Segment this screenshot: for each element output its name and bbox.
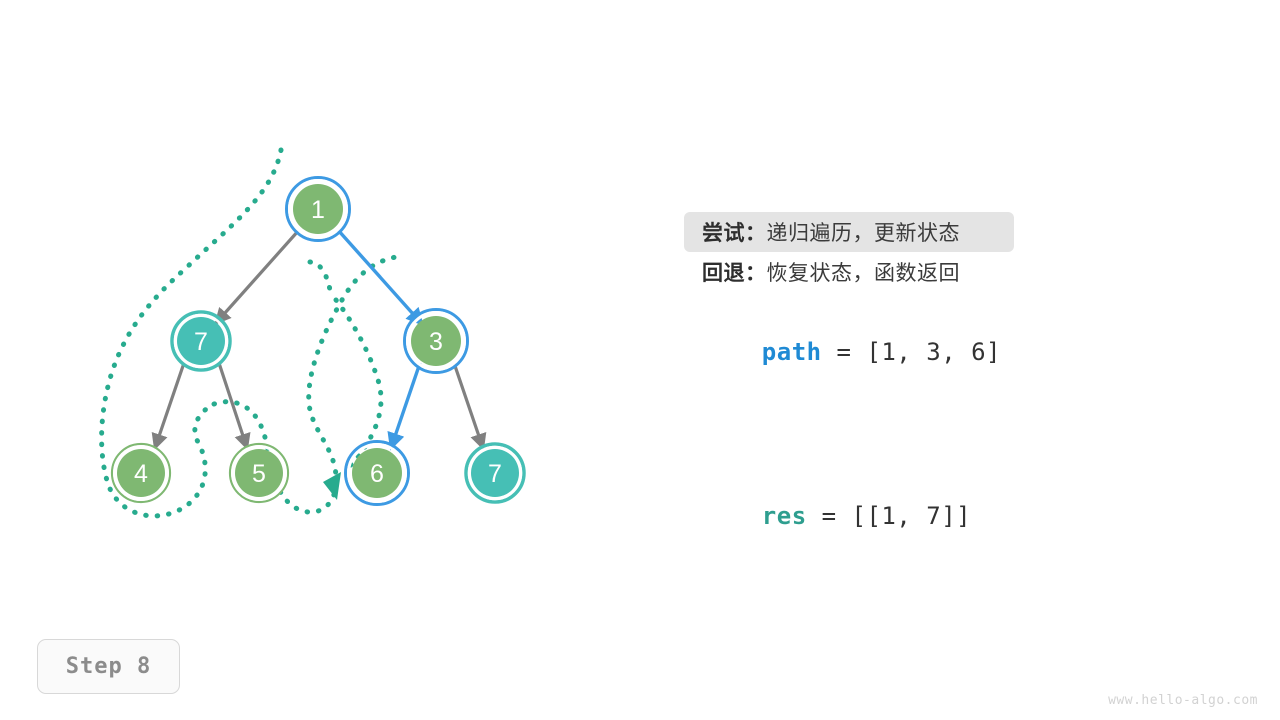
trail-segment-right-top [310,262,330,290]
tree-node-1-label: 1 [311,196,325,224]
tree-node-5-label: 5 [252,460,266,488]
step-badge-label: Step 8 [66,654,151,679]
tree-node-4-label: 4 [134,460,148,488]
tree-node-6[interactable]: 6 [346,442,409,505]
edge-3-7r [454,363,483,448]
tree-node-6-label: 6 [370,460,384,488]
edge-7l-5 [219,363,247,448]
edge-7l-4 [155,363,184,448]
tree-node-7-right[interactable]: 7 [466,444,524,502]
backtrack-line-value: 恢复状态，函数返回 [767,257,961,287]
edge-1-3 [338,230,422,324]
watermark: www.hello-algo.com [1108,693,1258,708]
tree-node-7-right-label: 7 [488,460,502,488]
watermark-text: www.hello-algo.com [1108,693,1258,708]
tree-node-4[interactable]: 4 [112,444,170,502]
path-state-line: path = [1, 3, 6] [684,310,1104,394]
path-variable-value: = [1, 3, 6] [822,338,1001,366]
backtrack-line: 回退： 恢复状态，函数返回 [684,252,1014,292]
res-state-line: res = [[1, 7]] [684,474,1104,558]
tree-node-3-label: 3 [429,328,443,356]
edge-3-6 [391,363,420,448]
path-variable-name: path [762,338,822,366]
tree-node-1[interactable]: 1 [287,178,350,241]
try-line-value: 递归遍历，更新状态 [767,217,961,247]
tree-node-7-left-label: 7 [194,328,208,356]
tree-node-3[interactable]: 3 [405,310,468,373]
step-badge: Step 8 [37,639,180,694]
tree-node-5[interactable]: 5 [230,444,288,502]
edge-1-7l [216,230,299,323]
try-line-key: 尝试： [702,217,767,247]
res-variable-value: = [[1, 7]] [807,502,971,530]
tree-node-7-left[interactable]: 7 [172,312,230,370]
backtrack-line-key: 回退： [702,257,767,287]
tree-nodes: 1 7 3 4 5 [112,178,524,505]
try-line: 尝试： 递归遍历，更新状态 [684,212,1014,252]
info-panel: 尝试： 递归遍历，更新状态 回退： 恢复状态，函数返回 path = [1, 3… [684,212,1104,558]
res-variable-name: res [762,502,807,530]
